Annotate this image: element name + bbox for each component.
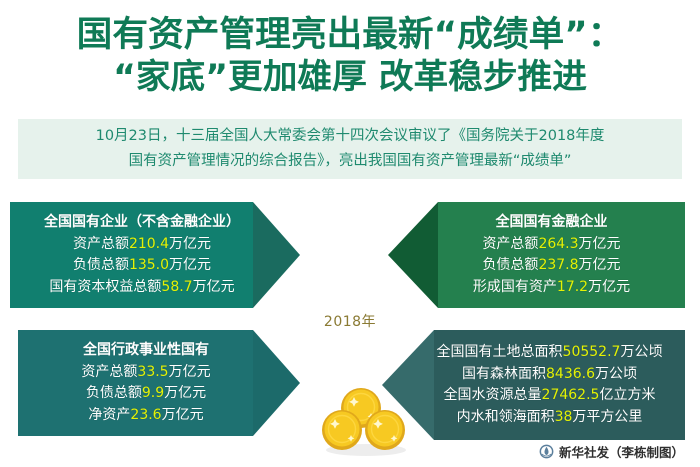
row-value: 264.3 — [538, 236, 578, 252]
row-value: 8436.6 — [546, 366, 595, 382]
credit-text: 新华社发（李栋制图） — [559, 442, 684, 461]
row-unit: 万平方公里 — [572, 409, 642, 425]
row-unit: 万亿元 — [579, 236, 621, 252]
infographic-root: 国有资产管理亮出最新“成绩单”： “家底”更加雄厚 改革稳步推进 10月23日，… — [0, 0, 700, 467]
panel-row: 负债总额237.8万亿元 — [473, 255, 630, 277]
row-unit: 万亿元 — [169, 364, 211, 380]
arrow-tip — [388, 202, 438, 308]
row-value: 237.8 — [538, 257, 578, 273]
panel-row: 负债总额135.0万亿元 — [44, 255, 240, 277]
row-unit: 万亿元 — [162, 407, 204, 423]
row-unit: 万亿元 — [169, 257, 211, 273]
panel-row: 净资产23.6万亿元 — [81, 405, 210, 427]
row-label: 资产总额 — [73, 236, 129, 252]
row-label: 负债总额 — [482, 257, 538, 273]
panel-row: 资产总额210.4万亿元 — [44, 234, 240, 256]
year-label: 2018年 — [0, 311, 700, 331]
panel-heading: 全国行政事业性国有 — [81, 340, 210, 362]
panel-natural-resource-assets: 全国国有土地总面积50552.7万公顷 国有森林面积8436.6万公顷 全国水资… — [382, 330, 685, 440]
subtitle-band: 10月23日，十三届全国人大常委会第十四次会议审议了《国务院关于2018年度 国… — [18, 119, 682, 179]
title-line-2: “家底”更加雄厚 改革稳步推进 — [0, 56, 700, 98]
row-value: 210.4 — [129, 236, 169, 252]
panel-row: 全国国有土地总面积50552.7万公顷 — [437, 342, 663, 364]
row-unit: 万亿元 — [193, 279, 235, 295]
row-unit: 万公顷 — [595, 366, 637, 382]
arrow-tip — [253, 330, 300, 436]
row-label: 全国国有土地总面积 — [437, 344, 563, 360]
row-value: 38 — [555, 409, 573, 425]
panel-text: 全国行政事业性国有 资产总额33.5万亿元 负债总额9.9万亿元 净资产23.6… — [81, 340, 236, 426]
panel-row: 国有森林面积8436.6万公顷 — [437, 364, 663, 386]
row-unit: 万亿元 — [169, 236, 211, 252]
coin-right — [365, 410, 405, 450]
row-label: 国有森林面积 — [462, 366, 546, 382]
row-unit: 亿立方米 — [599, 387, 655, 403]
row-label: 全国水资源总量 — [444, 387, 542, 403]
subtitle-line-1: 10月23日，十三届全国人大常委会第十四次会议审议了《国务院关于2018年度 — [40, 124, 660, 149]
panel-state-owned-enterprises: 全国国有企业（不含金融企业） 资产总额210.4万亿元 负债总额135.0万亿元… — [10, 202, 300, 308]
panel-heading: 全国国有企业（不含金融企业） — [44, 212, 240, 234]
panel-text: 全国国有土地总面积50552.7万公顷 国有森林面积8436.6万公顷 全国水资… — [405, 342, 663, 428]
row-value: 23.6 — [130, 407, 161, 423]
subtitle-line-2: 国有资产管理情况的综合报告》，亮出我国国有资产管理最新“成绩单” — [40, 149, 660, 174]
page-title: 国有资产管理亮出最新“成绩单”： “家底”更加雄厚 改革稳步推进 — [0, 14, 700, 98]
panel-row: 负债总额9.9万亿元 — [81, 383, 210, 405]
row-label: 负债总额 — [86, 385, 142, 401]
row-value: 9.9 — [142, 385, 164, 401]
panel-administrative-institutional-assets: 全国行政事业性国有 资产总额33.5万亿元 负债总额9.9万亿元 净资产23.6… — [18, 330, 300, 436]
row-value: 17.2 — [557, 279, 588, 295]
row-label: 内水和领海面积 — [457, 409, 555, 425]
row-label: 国有资本权益总额 — [49, 279, 161, 295]
panel-row: 形成国有资产17.2万亿元 — [473, 277, 630, 299]
row-value: 27462.5 — [542, 387, 600, 403]
coin-left — [322, 410, 362, 450]
subtitle-text: 10月23日，十三届全国人大常委会第十四次会议审议了《国务院关于2018年度 国… — [40, 124, 660, 174]
row-label: 资产总额 — [81, 364, 137, 380]
panel-row: 全国水资源总量27462.5亿立方米 — [437, 385, 663, 407]
panel-row: 资产总额264.3万亿元 — [473, 234, 630, 256]
xinhua-logo-icon — [539, 444, 554, 459]
row-value: 58.7 — [161, 279, 192, 295]
row-label: 负债总额 — [73, 257, 129, 273]
panel-row: 国有资本权益总额58.7万亿元 — [44, 277, 240, 299]
panel-text: 全国国有企业（不含金融企业） 资产总额210.4万亿元 负债总额135.0万亿元… — [44, 212, 266, 298]
title-line-1: 国有资产管理亮出最新“成绩单”： — [0, 14, 700, 56]
panel-heading: 全国国有金融企业 — [473, 212, 630, 234]
row-unit: 万亿元 — [579, 257, 621, 273]
credit-line: 新华社发（李栋制图） — [539, 442, 684, 461]
row-label: 资产总额 — [482, 236, 538, 252]
row-label: 形成国有资产 — [473, 279, 557, 295]
row-unit: 万亿元 — [164, 385, 206, 401]
row-value: 33.5 — [137, 364, 168, 380]
row-value: 50552.7 — [563, 344, 621, 360]
panel-row: 资产总额33.5万亿元 — [81, 362, 210, 384]
panel-state-owned-financial-enterprises: 全国国有金融企业 资产总额264.3万亿元 负债总额237.8万亿元 形成国有资… — [388, 202, 685, 308]
panel-row: 内水和领海面积38万平方公里 — [437, 407, 663, 429]
row-unit: 万亿元 — [588, 279, 630, 295]
row-unit: 万公顷 — [620, 344, 662, 360]
panel-text: 全国国有金融企业 资产总额264.3万亿元 负债总额237.8万亿元 形成国有资… — [443, 212, 630, 298]
row-label: 净资产 — [88, 407, 130, 423]
row-value: 135.0 — [129, 257, 169, 273]
gold-coins-icon — [316, 386, 412, 458]
